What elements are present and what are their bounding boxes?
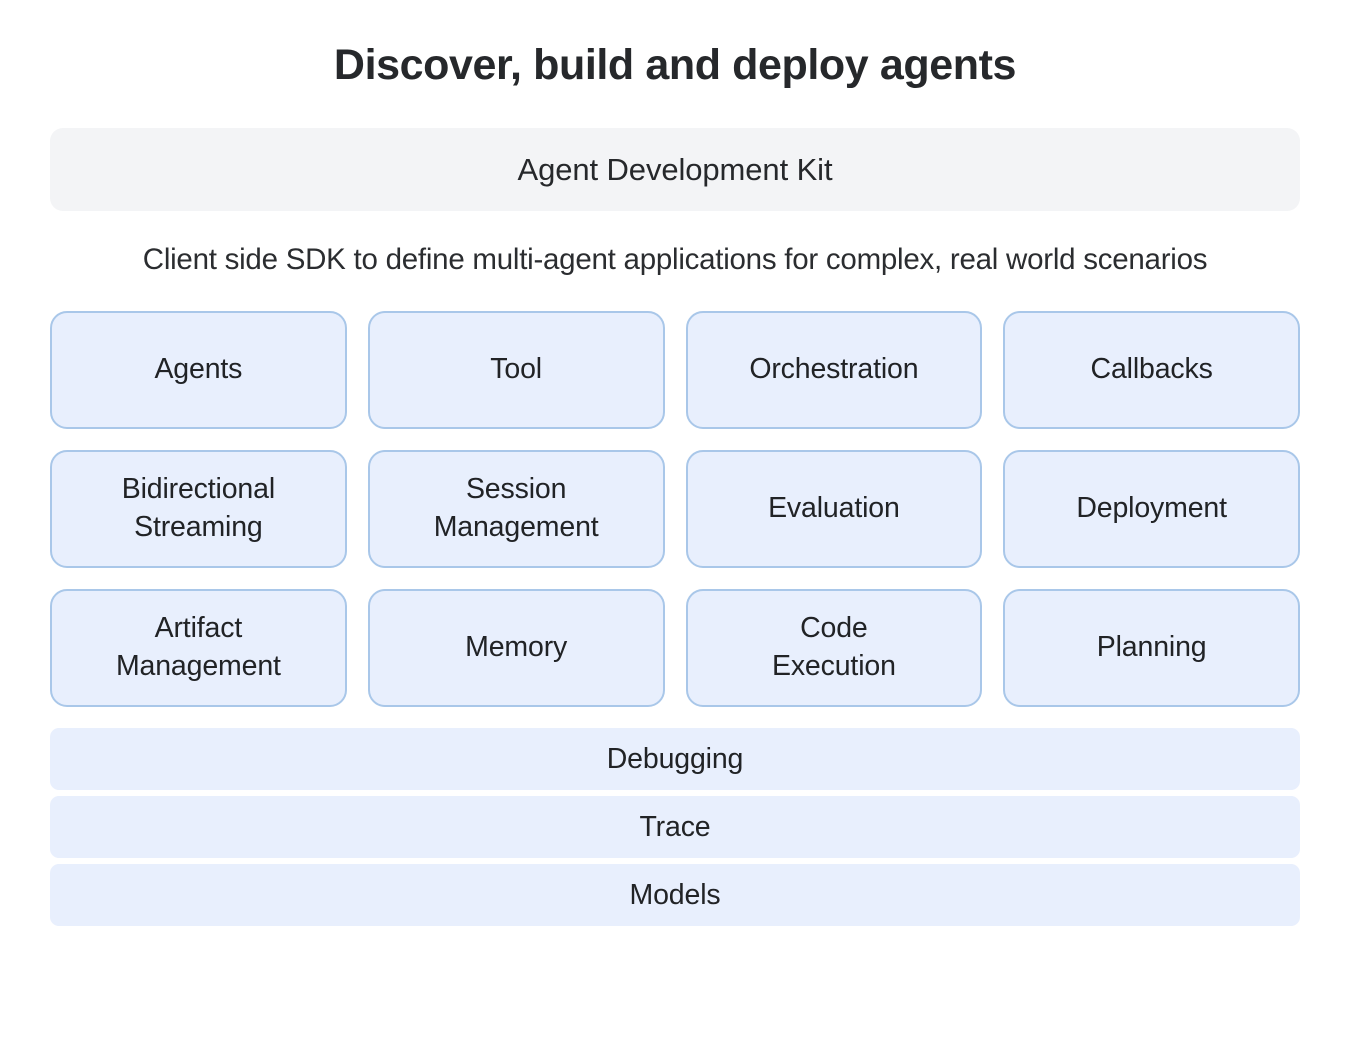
adk-diagram: Agent Development Kit Client side SDK to…	[50, 87, 1300, 926]
capability-box-artifact-management[interactable]: Artifact Management	[50, 589, 347, 707]
capability-label: Evaluation	[768, 490, 900, 528]
capability-box-evaluation[interactable]: Evaluation	[686, 450, 983, 568]
section-header-bar: Agent Development Kit	[50, 128, 1300, 211]
capability-label: Agents	[154, 351, 242, 389]
capability-label: Orchestration	[749, 351, 918, 389]
capability-label: Planning	[1097, 629, 1207, 667]
capability-box-memory[interactable]: Memory	[368, 589, 665, 707]
foundation-bar-trace[interactable]: Trace	[50, 796, 1300, 858]
capability-box-session-management[interactable]: Session Management	[368, 450, 665, 568]
foundation-bar-label: Debugging	[607, 743, 744, 776]
section-subtitle: Client side SDK to define multi-agent ap…	[50, 211, 1300, 277]
foundation-bar-label: Trace	[639, 811, 710, 844]
page-title: Discover, build and deploy agents	[0, 0, 1350, 87]
capability-label: Code Execution	[772, 610, 896, 686]
capability-box-code-execution[interactable]: Code Execution	[686, 589, 983, 707]
section-header-label: Agent Development Kit	[518, 152, 833, 188]
foundation-bar-label: Models	[630, 879, 721, 912]
capability-label: Artifact Management	[116, 610, 281, 686]
foundation-bars: Debugging Trace Models	[50, 707, 1300, 926]
capability-box-bidirectional-streaming[interactable]: Bidirectional Streaming	[50, 450, 347, 568]
capability-label: Tool	[490, 351, 542, 389]
capability-box-callbacks[interactable]: Callbacks	[1003, 311, 1300, 429]
capability-box-deployment[interactable]: Deployment	[1003, 450, 1300, 568]
capability-grid: Agents Tool Orchestration Callbacks Bidi…	[50, 277, 1300, 707]
capability-box-tool[interactable]: Tool	[368, 311, 665, 429]
capability-label: Bidirectional Streaming	[122, 471, 275, 547]
capability-box-planning[interactable]: Planning	[1003, 589, 1300, 707]
foundation-bar-models[interactable]: Models	[50, 864, 1300, 926]
capability-box-orchestration[interactable]: Orchestration	[686, 311, 983, 429]
capability-label: Session Management	[434, 471, 599, 547]
capability-label: Deployment	[1076, 490, 1227, 528]
foundation-bar-debugging[interactable]: Debugging	[50, 728, 1300, 790]
capability-label: Callbacks	[1091, 351, 1213, 389]
capability-label: Memory	[465, 629, 567, 667]
diagram-page: Discover, build and deploy agents Agent …	[0, 0, 1350, 1060]
capability-box-agents[interactable]: Agents	[50, 311, 347, 429]
